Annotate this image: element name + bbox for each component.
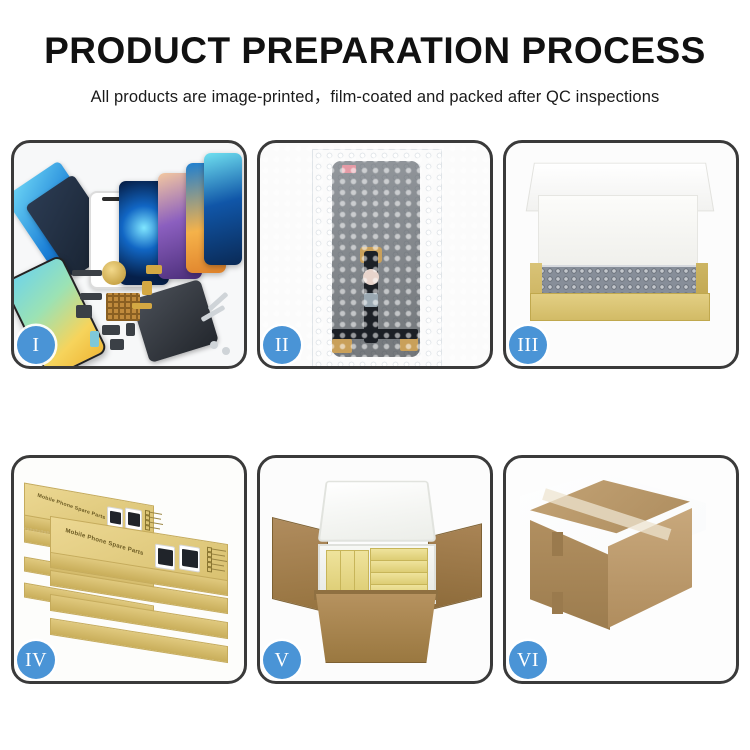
box-brand-text: Mobile Phone Spare Parts <box>37 493 106 522</box>
small-part <box>72 270 102 276</box>
step-badge-1: I <box>17 326 55 364</box>
white-foam-sheet <box>538 195 698 271</box>
box-brand-text: Mobile Phone Spare Parts <box>65 528 144 557</box>
small-part <box>76 305 92 318</box>
bubble-wrapped-contents <box>538 267 700 295</box>
small-part <box>80 293 102 300</box>
process-step-panel-5[interactable]: V <box>257 455 493 684</box>
small-part <box>142 281 152 295</box>
screw-part <box>222 347 230 355</box>
process-step-panel-4[interactable]: Mobile Phone Spare Parts Mobile Phone Sp… <box>11 455 247 684</box>
box-screen-graphic <box>179 544 200 572</box>
step-badge-4: IV <box>17 641 55 679</box>
process-step-grid: I II III <box>11 140 739 684</box>
phone-display-teal <box>204 153 242 265</box>
carton-body <box>316 594 436 663</box>
small-part <box>132 303 152 309</box>
small-part <box>126 323 135 336</box>
box-front-panel <box>530 293 710 321</box>
process-step-panel-2[interactable]: II <box>257 140 493 369</box>
process-step-panel-1[interactable]: I <box>11 140 247 369</box>
tape-tab-lower <box>552 592 563 614</box>
process-step-panel-6[interactable]: VI <box>503 455 739 684</box>
small-part <box>146 265 162 274</box>
page-title: PRODUCT PREPARATION PROCESS <box>0 32 750 69</box>
box-screen-graphic <box>155 544 175 571</box>
step-badge-3: III <box>509 326 547 364</box>
tape-tab-upper <box>552 532 563 556</box>
step-badge-2: II <box>263 326 301 364</box>
small-part <box>90 331 99 347</box>
page-header: PRODUCT PREPARATION PROCESS All products… <box>0 0 750 107</box>
step-badge-6: VI <box>509 641 547 679</box>
screw-part <box>210 341 218 349</box>
process-step-panel-3[interactable]: III <box>503 140 739 369</box>
step-badge-5: V <box>263 641 301 679</box>
foam-box-lid <box>318 481 437 542</box>
page-subtitle: All products are image-printed，film-coat… <box>0 83 750 107</box>
gold-coil-part <box>102 261 126 285</box>
small-part <box>110 339 124 350</box>
small-part <box>102 325 120 335</box>
